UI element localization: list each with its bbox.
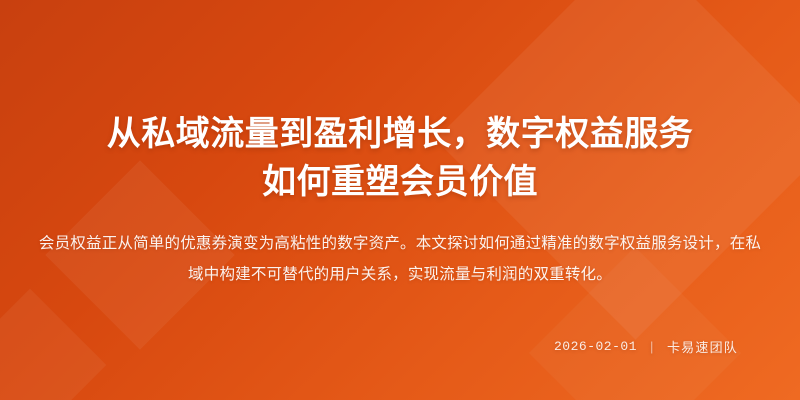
meta-divider: |: [650, 339, 654, 354]
banner-meta: 2026-02-01 | 卡易速团队: [554, 337, 738, 356]
title-line-1: 从私域流量到盈利增长，数字权益服务: [44, 110, 756, 158]
cover-banner: 从私域流量到盈利增长，数字权益服务 如何重塑会员价值 会员权益正从简单的优惠券演…: [0, 0, 800, 400]
page-title: 从私域流量到盈利增长，数字权益服务 如何重塑会员价值: [44, 110, 756, 206]
author-name: 卡易速团队: [667, 337, 738, 356]
publish-date: 2026-02-01: [554, 339, 637, 354]
page-subtitle: 会员权益正从简单的优惠券演变为高粘性的数字资产。本文探讨如何通过精准的数字权益服…: [34, 228, 766, 290]
title-line-2: 如何重塑会员价值: [44, 158, 756, 206]
